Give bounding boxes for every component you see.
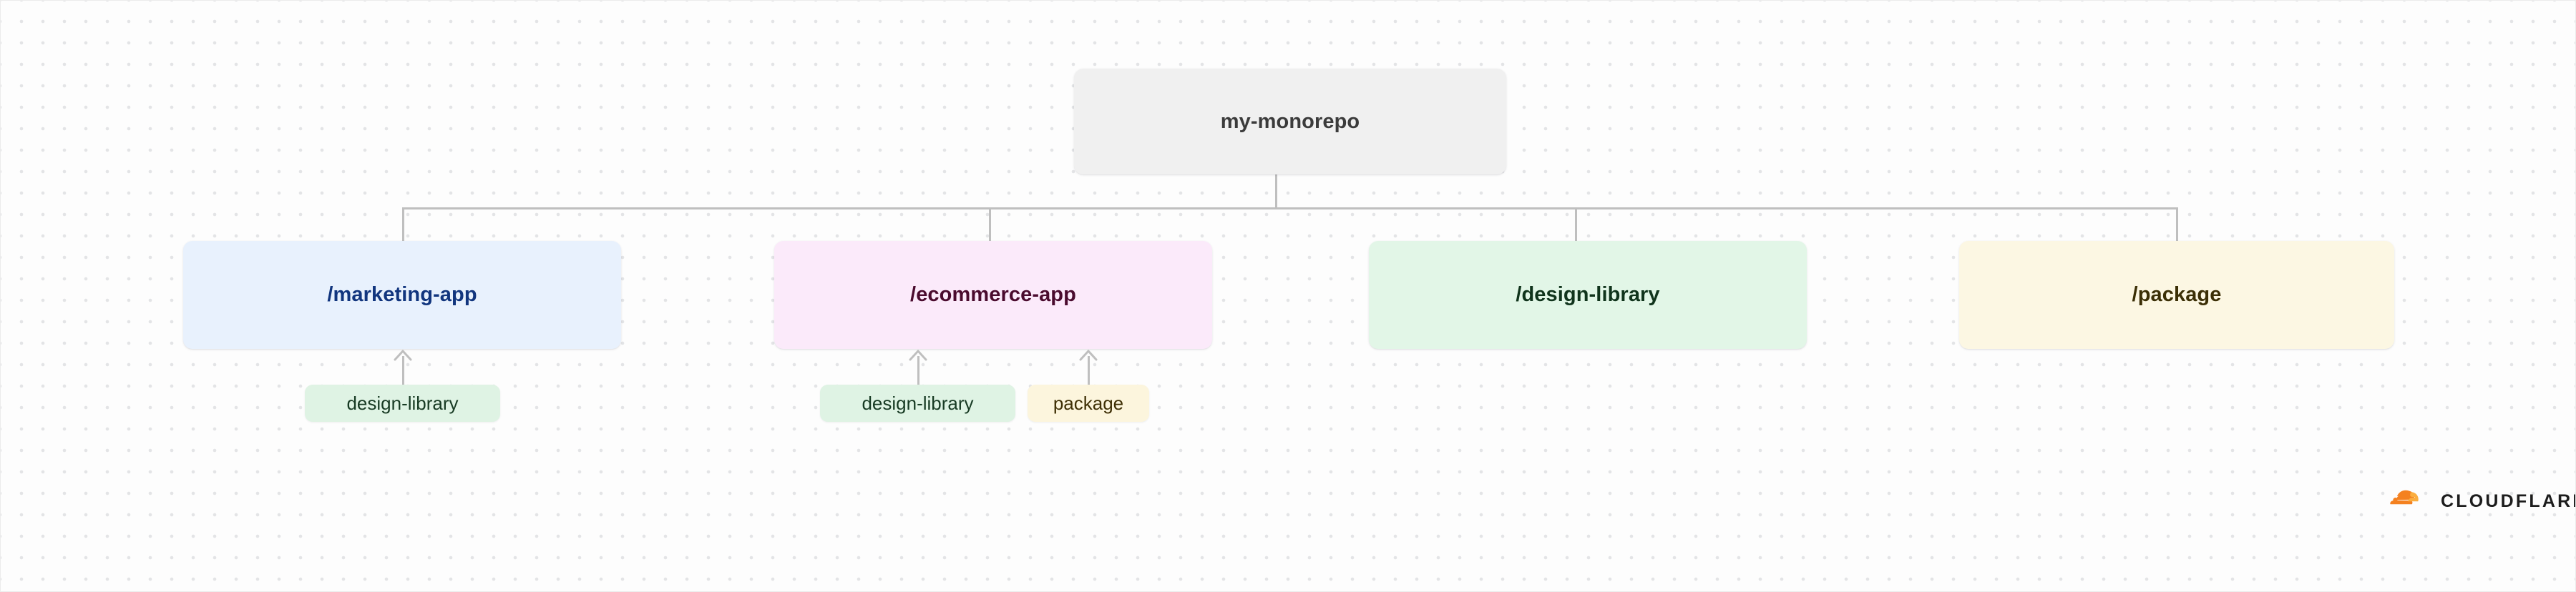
arrow-up-icon bbox=[909, 349, 927, 362]
chip-label: package bbox=[1053, 394, 1123, 413]
node-label: /marketing-app bbox=[327, 285, 477, 305]
cloudflare-logo: CLOUDFLARE bbox=[2389, 490, 2576, 513]
cloudflare-wordmark: CLOUDFLARE bbox=[2441, 493, 2576, 510]
edge-horizontal-bus bbox=[402, 207, 2177, 209]
edge-bus-to-marketing-app bbox=[402, 207, 404, 241]
edge-root-stem bbox=[1275, 174, 1277, 209]
node-label: my-monorepo bbox=[1221, 112, 1360, 132]
arrow-up-icon bbox=[1079, 349, 1098, 362]
edge-bus-to-design-library bbox=[1575, 207, 1577, 241]
diagram-canvas: my-monorepo /marketing-app /ecommerce-ap… bbox=[0, 0, 2576, 592]
node-my-monorepo[interactable]: my-monorepo bbox=[1074, 69, 1506, 174]
node-marketing-app[interactable]: /marketing-app bbox=[183, 241, 621, 349]
node-label: /design-library bbox=[1516, 285, 1659, 305]
edge-bus-to-package bbox=[2176, 207, 2178, 241]
chip-label: design-library bbox=[862, 394, 973, 413]
node-design-library[interactable]: /design-library bbox=[1369, 241, 1807, 349]
edge-bus-to-ecommerce-app bbox=[989, 207, 991, 241]
cloudflare-mark-icon bbox=[2389, 490, 2431, 513]
node-package[interactable]: /package bbox=[1959, 241, 2394, 349]
chip-ecommerce-dep-package[interactable]: package bbox=[1028, 385, 1149, 422]
chip-ecommerce-dep-design-library[interactable]: design-library bbox=[820, 385, 1015, 422]
node-ecommerce-app[interactable]: /ecommerce-app bbox=[774, 241, 1212, 349]
chip-marketing-dep-design-library[interactable]: design-library bbox=[305, 385, 500, 422]
arrow-up-icon bbox=[394, 349, 412, 362]
node-label: /package bbox=[2132, 285, 2222, 305]
node-label: /ecommerce-app bbox=[910, 285, 1076, 305]
chip-label: design-library bbox=[346, 394, 458, 413]
